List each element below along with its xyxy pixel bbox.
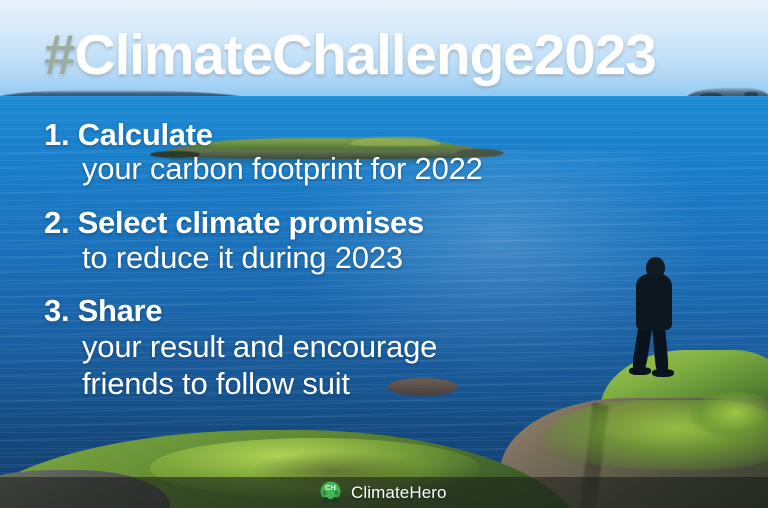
step-detail-line: to reduce it during 2023 [82,240,644,277]
person-leg-right [652,323,669,376]
hashtag-text: ClimateChallenge2023 [75,23,656,87]
step-heading: 3. Share [44,294,644,327]
logo-initials: CH [325,483,336,492]
climatehero-logo-icon: CH [318,480,343,505]
person-foot-right [652,369,674,377]
step-heading: 1. Calculate [44,118,644,151]
page-title: #ClimateChallenge2023 [44,22,656,88]
person-head [646,257,665,278]
step-heading: 2. Select climate promises [44,206,644,239]
step-detail-line: your result and encourage [82,328,644,365]
list-item: 2. Select climate promises to reduce it … [44,206,644,276]
list-item: 3. Share your result and encourage frien… [44,294,644,402]
brand-name: ClimateHero [351,483,447,503]
brand-logo: CH ClimateHero [318,480,447,505]
step-detail-line: your carbon footprint for 2022 [82,151,644,188]
poster-image: #ClimateChallenge2023 1. Calculate your … [0,0,768,508]
steps-list: 1. Calculate your carbon footprint for 2… [44,118,644,420]
step-detail-line: friends to follow suit [82,365,644,402]
hashtag-symbol: # [44,23,75,87]
list-item: 1. Calculate your carbon footprint for 2… [44,118,644,188]
